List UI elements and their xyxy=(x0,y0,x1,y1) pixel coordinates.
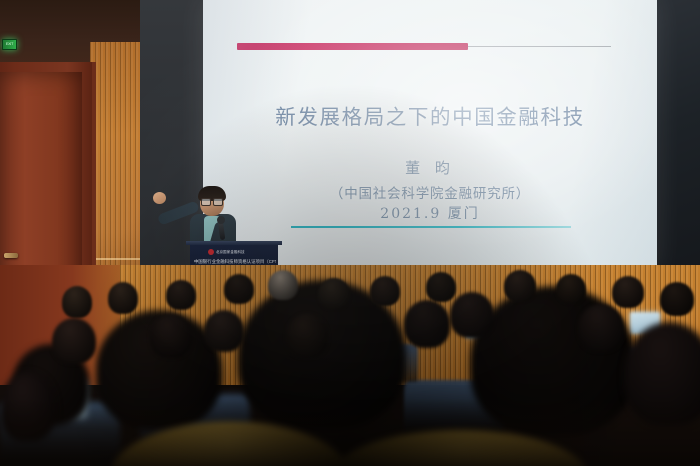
audience-head xyxy=(286,314,328,358)
microphone-head-icon xyxy=(217,216,225,224)
audience-head xyxy=(660,282,694,316)
audience-head xyxy=(318,278,350,310)
audience-head xyxy=(504,270,536,302)
slide-accent-bar xyxy=(237,43,468,50)
audience-head xyxy=(450,292,494,338)
slide-underline xyxy=(291,226,571,228)
audience-head xyxy=(426,272,456,302)
lecture-hall-photo: EXIT 新发展格局之下的中国金融科技 董 昀 （中国社会科学院金融研究所） 2… xyxy=(0,0,700,466)
audience-head xyxy=(224,274,254,304)
audience-head xyxy=(204,310,244,352)
speaker-hand xyxy=(153,192,166,204)
audience-head xyxy=(52,318,96,364)
audience-head xyxy=(370,276,400,306)
audience-head xyxy=(578,304,624,352)
projection-screen: 新发展格局之下的中国金融科技 董 昀 （中国社会科学院金融研究所） 2021.9… xyxy=(203,0,657,272)
audience-head xyxy=(268,270,298,300)
glasses-icon xyxy=(201,198,223,204)
exit-sign-icon: EXIT xyxy=(2,39,17,50)
audience-head xyxy=(404,300,450,348)
audience-head xyxy=(166,280,196,310)
slide-title: 新发展格局之下的中国金融科技 xyxy=(203,100,657,130)
audience-head xyxy=(556,274,586,304)
slide-accent-rule xyxy=(468,46,611,47)
audience-head xyxy=(624,322,700,426)
audience-head xyxy=(62,286,92,318)
audience-head xyxy=(612,276,644,308)
audience-head xyxy=(0,372,56,442)
right-dark-wall xyxy=(655,0,700,272)
audience-head xyxy=(108,282,138,314)
slide-author: 董 昀 xyxy=(203,157,657,178)
slide-affiliation: （中国社会科学院金融研究所） xyxy=(203,182,657,202)
slide-date-location: 2021.9 厦门 xyxy=(203,203,657,223)
audience xyxy=(0,252,700,466)
audience-head xyxy=(150,314,192,358)
